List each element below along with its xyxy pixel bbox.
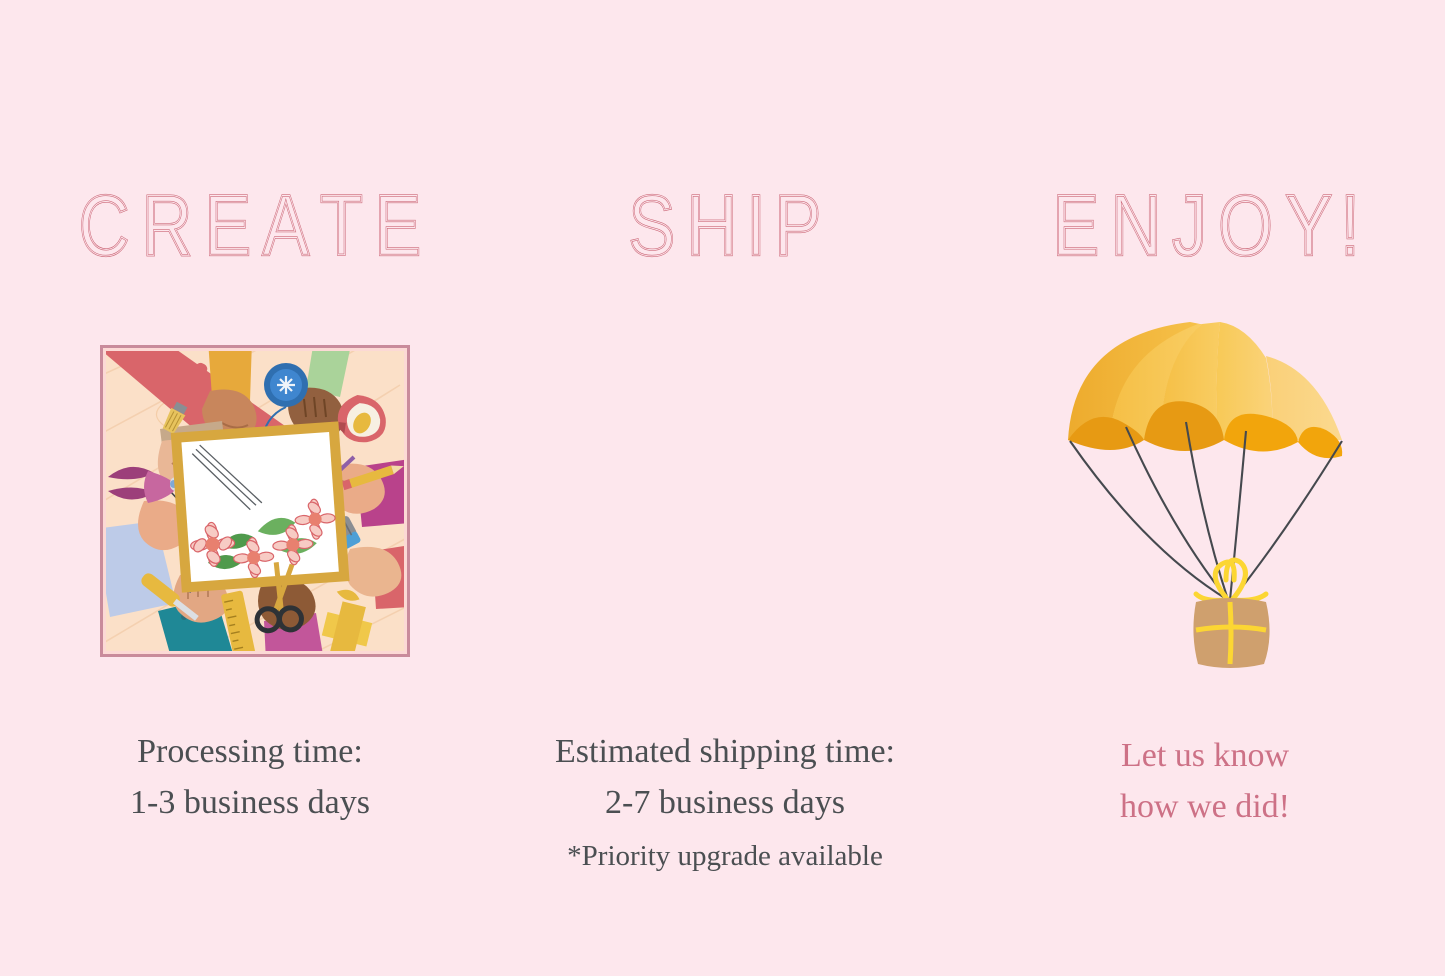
- heading-glyph: I: [746, 183, 766, 269]
- heading-ship: SHIP: [480, 183, 970, 269]
- caption-line: 2-7 business days: [480, 777, 970, 828]
- caption-line: Estimated shipping time:: [480, 726, 970, 777]
- heading-create: CREATE: [0, 183, 500, 269]
- column-ship: SHIP: [480, 0, 970, 976]
- shipping-process-graphic: CREATE: [0, 0, 1445, 976]
- caption-line: how we did!: [965, 781, 1445, 832]
- caption-ship: Estimated shipping time: 2-7 business da…: [480, 726, 970, 828]
- priority-upgrade-note: *Priority upgrade available: [480, 840, 970, 873]
- craft-table-illustration: [100, 345, 410, 657]
- caption-create: Processing time: 1-3 business days: [0, 726, 500, 828]
- heading-glyph: S: [628, 183, 676, 269]
- caption-line: Let us know: [965, 730, 1445, 781]
- heading-glyph: N: [1111, 183, 1163, 269]
- heading-glyph: O: [1218, 183, 1274, 269]
- heading-glyph: Y: [1285, 183, 1333, 269]
- heading-glyph: C: [78, 183, 130, 269]
- caption-line: 1-3 business days: [0, 777, 500, 828]
- heading-glyph: !: [1341, 183, 1361, 269]
- column-create: CREATE: [0, 0, 500, 976]
- heading-glyph: R: [141, 183, 193, 269]
- heading-glyph: E: [1052, 183, 1100, 269]
- heading-glyph: T: [320, 183, 364, 269]
- heading-glyph: P: [774, 183, 822, 269]
- heading-glyph: A: [262, 183, 310, 269]
- caption-enjoy: Let us know how we did!: [965, 730, 1445, 832]
- heading-glyph: J: [1172, 183, 1208, 269]
- heading-glyph: E: [374, 183, 422, 269]
- caption-line: Processing time:: [0, 726, 500, 777]
- heading-glyph: H: [687, 183, 739, 269]
- column-enjoy: ENJOY!: [965, 0, 1445, 976]
- heading-glyph: E: [204, 183, 252, 269]
- heading-enjoy: ENJOY!: [965, 183, 1445, 269]
